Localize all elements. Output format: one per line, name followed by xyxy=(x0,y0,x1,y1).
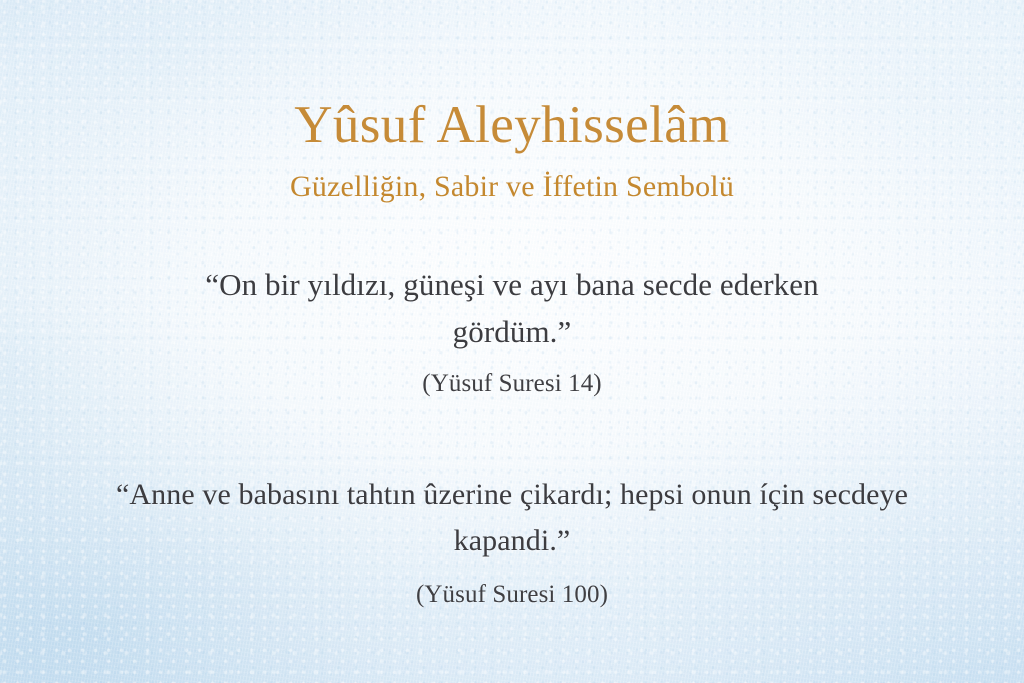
slide-content: Yûsuf Aleyhisselâm Güzelliğin, Sabir ve … xyxy=(0,0,1024,683)
quote-text-1: “On bir yıldızı, güneşi ve ayı bana secd… xyxy=(147,261,877,355)
quote-block-1: “On bir yıldızı, güneşi ve ayı bana secd… xyxy=(147,261,877,400)
quote-source-1: (Yüsuf Suresi 14) xyxy=(147,368,877,401)
quote-source-2: (Yüsuf Suresi 100) xyxy=(97,579,927,612)
quote-block-2: “Anne ve babasını tahtın ûzerine çikardı… xyxy=(97,472,927,612)
page-title: Yûsuf Aleyhisselâm xyxy=(64,96,960,155)
slide-canvas: Yûsuf Aleyhisselâm Güzelliğin, Sabir ve … xyxy=(0,0,1024,683)
quote-text-2: “Anne ve babasını tahtın ûzerine çikardı… xyxy=(97,472,927,563)
page-subtitle: Güzelliğin, Sabir ve İffetin Sembolü xyxy=(64,169,960,205)
